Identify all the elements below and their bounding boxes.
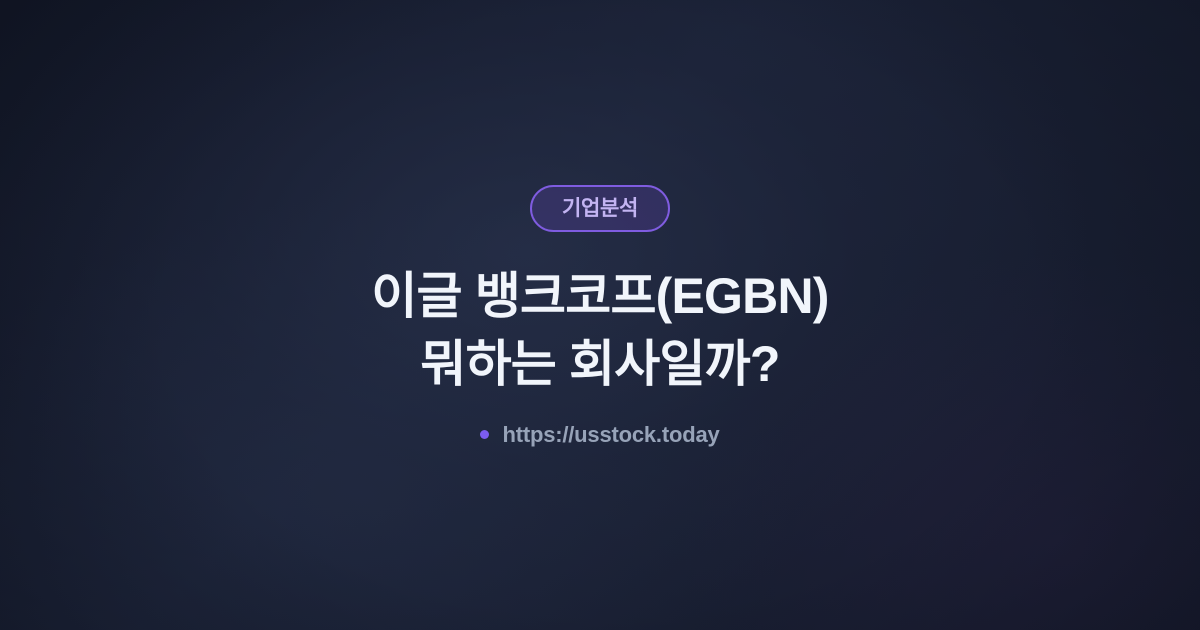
category-badge: 기업분석 bbox=[530, 185, 670, 232]
page-title: 이글 뱅크코프(EGBN) 뭐하는 회사일까? bbox=[371, 262, 828, 398]
site-url: https://usstock.today bbox=[480, 424, 719, 446]
site-url-text: https://usstock.today bbox=[502, 424, 719, 446]
card-content: 기업분석 이글 뱅크코프(EGBN) 뭐하는 회사일까? https://uss… bbox=[0, 185, 1200, 446]
category-badge-label: 기업분석 bbox=[562, 198, 638, 219]
og-card: 기업분석 이글 뱅크코프(EGBN) 뭐하는 회사일까? https://uss… bbox=[0, 0, 1200, 630]
bullet-dot-icon bbox=[480, 430, 489, 439]
page-title-line-2: 뭐하는 회사일까? bbox=[420, 330, 779, 398]
page-title-line-1: 이글 뱅크코프(EGBN) bbox=[371, 262, 828, 330]
